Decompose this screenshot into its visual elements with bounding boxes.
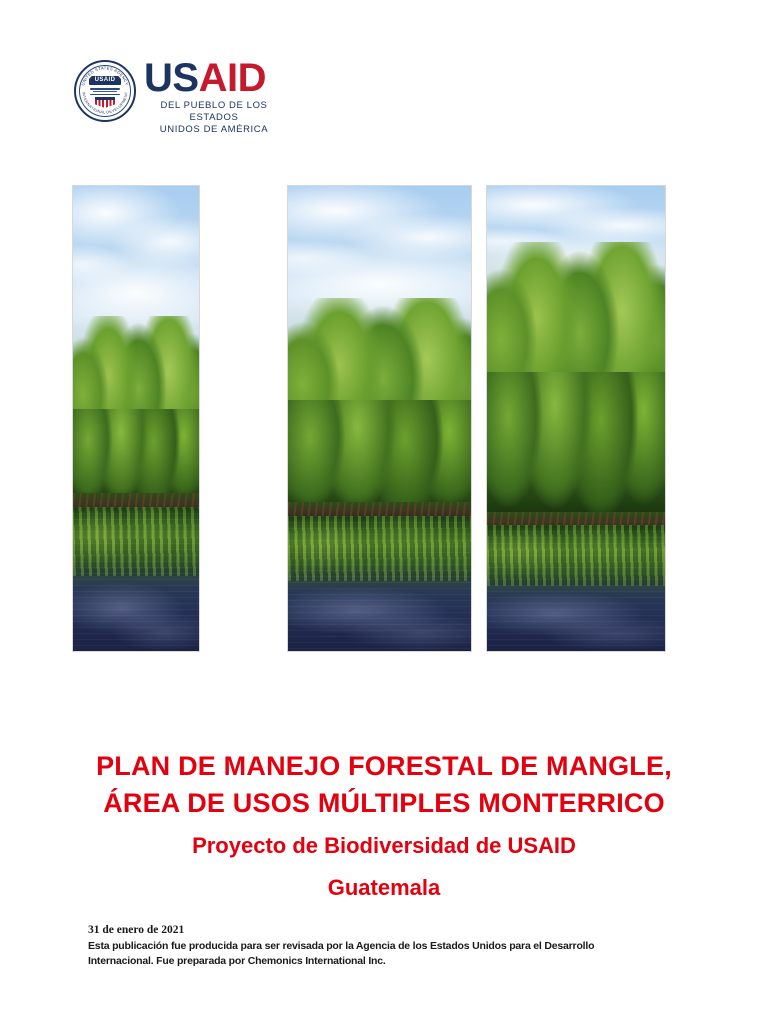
usaid-wordmark-text: USAID [144,58,284,98]
usaid-logo: UNITED STATES AGENCY INTERNATIONAL DEVEL… [74,58,374,130]
usaid-wordmark: USAID DEL PUEBLO DE LOS ESTADOS UNIDOS D… [144,58,284,136]
seal-inner-emblem: USAID [85,71,125,111]
water-layer [73,507,199,651]
tagline-line-2: UNIDOS DE AMÉRICA [144,124,284,136]
usaid-seal-icon: UNITED STATES AGENCY INTERNATIONAL DEVEL… [74,60,136,122]
project-name: Proyecto de Biodiversidad de USAID [0,826,768,866]
tagline-line-1: DEL PUEBLO DE LOS ESTADOS [144,100,284,124]
publication-date: 31 de enero de 2021 [88,922,648,938]
seal-banner-label: USAID [89,76,121,85]
handshake-wings-icon [89,87,121,96]
shield-icon [95,97,115,108]
water-ripple [288,516,471,651]
water-ripple [73,507,199,651]
water-layer [288,516,471,651]
mangrove-photo-right [486,185,666,652]
cover-title-block: PLAN DE MANEJO FORESTAL DE MANGLE, ÁREA … [0,748,768,908]
mangrove-photo-center [287,185,472,652]
document-title-line-2: ÁREA DE USOS MÚLTIPLES MONTERRICO [0,785,768,822]
dense-canopy-layer [487,372,665,521]
wordmark-aid: AID [199,56,266,100]
disclaimer-line-1: Esta publicación fue producida para ser … [88,939,648,954]
document-title-line-1: PLAN DE MANEJO FORESTAL DE MANGLE, [0,748,768,785]
usaid-tagline: DEL PUEBLO DE LOS ESTADOS UNIDOS DE AMÉR… [144,100,284,136]
country-name: Guatemala [0,868,768,908]
disclaimer-line-2: Internacional. Fue preparada por Chemoni… [88,954,648,969]
cover-footer: 31 de enero de 2021 Esta publicación fue… [88,922,648,969]
wordmark-us: US [144,56,199,100]
water-ripple [487,525,665,651]
water-layer [487,525,665,651]
cover-photo-triptych [72,185,666,652]
mangrove-photo-left [72,185,200,652]
